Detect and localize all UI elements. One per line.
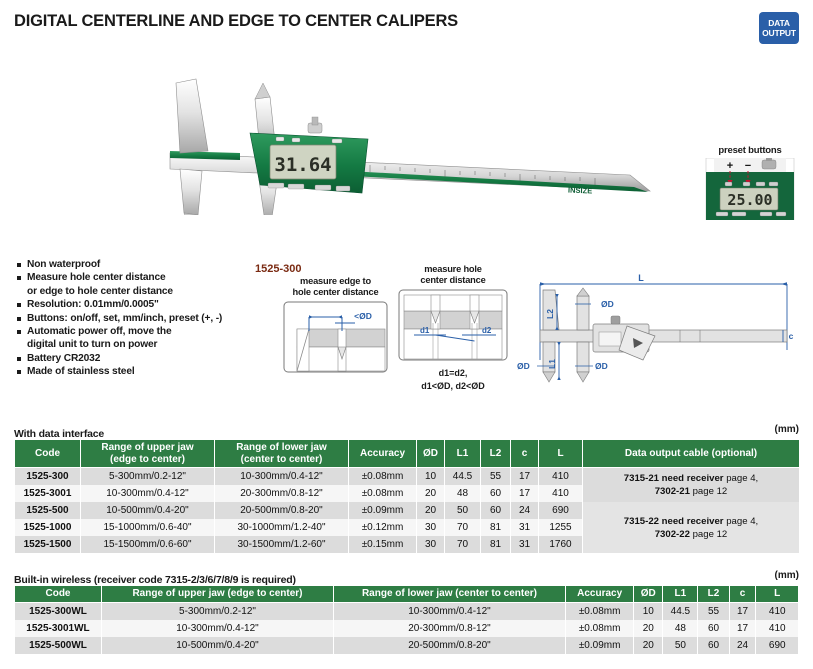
cell-data-output-cable: 7315-21 need receiver page 4, 7302-21 pa… [583,468,800,503]
th-upper-line2: (edge to center) [110,454,185,465]
table-wireless-head: Code Range of upper jaw (edge to center)… [15,586,799,603]
cell-diameter: 30 [417,536,445,553]
feature-item: Automatic power off, move the [16,325,276,338]
th-l: L [539,440,583,468]
cell-upper-range: 15-1500mm/0.6-60" [81,536,215,553]
features-ul: Non waterproof Measure hole center dista… [16,258,276,379]
cell-diameter: 20 [634,637,663,654]
preset-plus-label: + [727,160,733,172]
cell-lower-range: 20-300mm/0.8-12" [333,620,565,637]
caliper-product-image: 31.64 INSIZE [110,65,670,215]
cell-upper-range: 10-300mm/0.4-12" [81,485,215,502]
cell-l: 1255 [539,519,583,536]
th-l: L [756,586,799,603]
table-row: 1525-500WL 10-500mm/0.4-20" 20-500mm/0.8… [15,637,799,654]
th-l1: L1 [663,586,698,603]
cell-l1: 70 [445,519,481,536]
cell-c: 24 [511,502,539,519]
cell-l: 1760 [539,536,583,553]
table-wireless-body: 1525-300WL 5-300mm/0.2-12" 10-300mm/0.4-… [15,602,799,654]
caliper-lcd-value: 31.64 [274,154,331,176]
th-accuracy: Accuracy [349,440,417,468]
cell-code: 1525-1500 [15,536,81,553]
cell-code: 1525-500WL [15,637,102,654]
cell-upper-range: 5-300mm/0.2-12" [101,602,333,620]
cell-l1: 48 [663,620,698,637]
cell-accuracy: ±0.15mm [349,536,417,553]
badge-line-1: DATA [768,18,790,28]
cell-accuracy: ±0.08mm [349,468,417,486]
cell-upper-range: 10-500mm/0.4-20" [101,637,333,654]
preset-minus-label: − [745,160,751,172]
cell-c: 17 [729,602,756,620]
cell-c: 17 [729,620,756,637]
th-accuracy: Accuracy [565,586,633,603]
cell-accuracy: ±0.09mm [349,502,417,519]
cable-code-1: 7315-22 need receiver [624,516,724,527]
cell-c: 31 [511,519,539,536]
diagram-dims-label-c: c [789,331,794,341]
table-block-with-data-interface: With data interface (mm) Code Range of u… [14,424,799,553]
cell-diameter: 20 [417,502,445,519]
diagram-hole-note-1: d1=d2, [398,368,508,379]
cell-l2: 55 [481,468,511,486]
th-l2: L2 [481,440,511,468]
cell-l2: 60 [481,485,511,502]
diagram-dims-label-L: L [638,273,644,283]
cell-code: 1525-300 [15,468,81,486]
diagram-dims-label-L2: L2 [545,309,555,319]
cell-l2: 60 [698,637,729,654]
preset-caption: preset buttons [692,145,808,156]
diagram-hole-caption-1: measure hole [398,264,508,275]
table-row: 1525-300 5-300mm/0.2-12" 10-300mm/0.4-12… [15,468,800,486]
cell-accuracy: ±0.09mm [565,637,633,654]
table-block-built-in-wireless: Built-in wireless (receiver code 7315-2/… [14,570,799,654]
cell-lower-range: 20-500mm/0.8-20" [333,637,565,654]
cable-page-2: page 12 [690,529,727,540]
cell-c: 31 [511,536,539,553]
cell-c: 17 [511,468,539,486]
cell-code: 1525-3001 [15,485,81,502]
table-wireless-header-row: Code Range of upper jaw (edge to center)… [15,586,799,603]
cell-l1: 48 [445,485,481,502]
cell-lower-range: 10-300mm/0.4-12" [215,468,349,486]
cell-l: 410 [539,468,583,486]
diagram-hole-label-d1: d1 [420,326,430,335]
th-c: c [511,440,539,468]
feature-item: Resolution: 0.01mm/0.0005" [16,298,276,311]
cable-code-2: 7302-22 [655,529,690,540]
cell-l: 410 [756,602,799,620]
table-wireless-unit: (mm) [775,570,799,581]
th-l1: L1 [445,440,481,468]
table-wireless-caption-row: Built-in wireless (receiver code 7315-2/… [14,570,799,585]
table-wired: Code Range of upper jaw (edge to center)… [14,439,800,553]
cell-accuracy: ±0.08mm [349,485,417,502]
diagram-hole-caption-2: center distance [398,275,508,286]
th-lower-jaw: Range of lower jaw (center to center) [215,440,349,468]
table-wired-caption-row: With data interface (mm) [14,424,799,439]
cell-l2: 60 [698,620,729,637]
th-code: Code [15,586,102,603]
table-wired-header-row: Code Range of upper jaw (edge to center)… [15,440,800,468]
th-data-output-cable: Data output cable (optional) [583,440,800,468]
cell-code: 1525-1000 [15,519,81,536]
cell-c: 17 [511,485,539,502]
cell-code: 1525-3001WL [15,620,102,637]
cell-c: 24 [729,637,756,654]
cable-page-2: page 12 [690,486,727,497]
diagram-edge-graphic: <ØD [283,301,388,373]
th-lower-line2: (center to center) [241,454,323,465]
cell-diameter: 10 [417,468,445,486]
cell-code: 1525-300WL [15,602,102,620]
table-wired-head: Code Range of upper jaw (edge to center)… [15,440,800,468]
th-c: c [729,586,756,603]
cell-lower-range: 30-1000mm/1.2-40" [215,519,349,536]
th-upper-line1: Range of upper jaw [101,442,193,453]
diagram-hole-note-2: d1<ØD, d2<ØD [398,381,508,392]
cell-l2: 55 [698,602,729,620]
cell-diameter: 20 [417,485,445,502]
cell-lower-range: 20-500mm/0.8-20" [215,502,349,519]
cell-l1: 50 [445,502,481,519]
cell-l1: 44.5 [663,602,698,620]
table-wired-unit: (mm) [775,424,799,435]
th-lower-line1: Range of lower jaw [236,442,327,453]
page-title: DIGITAL CENTERLINE AND EDGE TO CENTER CA… [14,10,799,32]
th-l2: L2 [698,586,729,603]
diagram-edge-caption-1: measure edge to [283,276,388,287]
cable-page-1: page 4, [724,516,759,527]
feature-item: Made of stainless steel [16,365,276,378]
diagram-dims-graphic: L L2 L1 [515,268,805,386]
table-row: 1525-500 10-500mm/0.4-20" 20-500mm/0.8-2… [15,502,800,519]
feature-item: Buttons: on/off, set, mm/inch, preset (+… [16,312,276,325]
cell-l1: 70 [445,536,481,553]
diagram-measure-edge-to-hole-center: measure edge to hole center distance <ØD [283,276,388,378]
cell-l2: 81 [481,519,511,536]
diagram-edge-caption-2: hole center distance [283,287,388,298]
cell-diameter: 20 [634,620,663,637]
cell-lower-range: 10-300mm/0.4-12" [333,602,565,620]
data-output-badge: DATA OUTPUT [759,12,799,44]
th-code: Code [15,440,81,468]
diagram-dims-label-D-lower: ØD [595,361,608,371]
feature-item: Measure hole center distance [16,271,276,284]
cell-l1: 44.5 [445,468,481,486]
th-diameter: ØD [417,440,445,468]
feature-item: Non waterproof [16,258,276,271]
product-photo-area: 31.64 INSIZE 1525-300 [0,55,690,230]
cell-l2: 60 [481,502,511,519]
cell-l1: 50 [663,637,698,654]
feature-item-continuation: digital unit to turn on power [16,338,276,351]
preset-lcd-value: 25.00 [727,191,772,209]
diagram-hole-graphic: d1 d2 [398,289,508,361]
table-row: 1525-3001WL 10-300mm/0.4-12" 20-300mm/0.… [15,620,799,637]
th-diameter: ØD [634,586,663,603]
th-lower-jaw: Range of lower jaw (center to center) [333,586,565,603]
cell-upper-range: 10-500mm/0.4-20" [81,502,215,519]
cell-upper-range: 5-300mm/0.2-12" [81,468,215,486]
cable-code-1: 7315-21 need receiver [624,473,724,484]
diagram-hole-label-d2: d2 [482,326,492,335]
table-wireless: Code Range of upper jaw (edge to center)… [14,585,799,654]
cable-page-1: page 4, [724,473,759,484]
cell-l: 410 [756,620,799,637]
table-wired-caption: With data interface [14,428,104,440]
badge-line-2: OUTPUT [762,28,796,38]
cell-upper-range: 10-300mm/0.4-12" [101,620,333,637]
cell-accuracy: ±0.08mm [565,602,633,620]
cell-diameter: 30 [417,519,445,536]
cable-code-2: 7302-21 [655,486,690,497]
table-wired-body: 1525-300 5-300mm/0.2-12" 10-300mm/0.4-12… [15,468,800,554]
table-wireless-caption: Built-in wireless (receiver code 7315-2/… [14,574,296,586]
cell-lower-range: 30-1500mm/1.2-60" [215,536,349,553]
cell-accuracy: ±0.12mm [349,519,417,536]
caliper-brand-mark: INSIZE [568,185,593,195]
diagram-measure-hole-center-distance: measure hole center distance d1 d2 d1=d2… [398,264,508,391]
cell-l: 410 [539,485,583,502]
table-row: 1525-300WL 5-300mm/0.2-12" 10-300mm/0.4-… [15,602,799,620]
diagram-dims-label-D-left: ØD [517,361,530,371]
feature-item: Battery CR2032 [16,352,276,365]
diagram-dimension-drawing: L L2 L1 [515,268,805,388]
cell-l: 690 [539,502,583,519]
preset-detail-image: + − 25.00 [692,158,808,220]
page-header: DIGITAL CENTERLINE AND EDGE TO CENTER CA… [14,10,799,50]
cell-diameter: 10 [634,602,663,620]
cell-lower-range: 20-300mm/0.8-12" [215,485,349,502]
cell-accuracy: ±0.08mm [565,620,633,637]
diagram-dims-label-D-upper: ØD [601,299,614,309]
diagram-edge-label-d: <ØD [354,311,372,321]
feature-item-continuation: or edge to hole center distance [16,285,276,298]
cell-data-output-cable: 7315-22 need receiver page 4, 7302-22 pa… [583,502,800,553]
preset-buttons-inset: preset buttons + − 25.00 [692,145,808,225]
cell-l2: 81 [481,536,511,553]
features-list: Non waterproof Measure hole center dista… [16,258,276,379]
cell-l: 690 [756,637,799,654]
th-upper-jaw: Range of upper jaw (edge to center) [81,440,215,468]
th-upper-jaw: Range of upper jaw (edge to center) [101,586,333,603]
cell-code: 1525-500 [15,502,81,519]
cell-upper-range: 15-1000mm/0.6-40" [81,519,215,536]
diagram-dims-label-L1: L1 [547,359,557,369]
